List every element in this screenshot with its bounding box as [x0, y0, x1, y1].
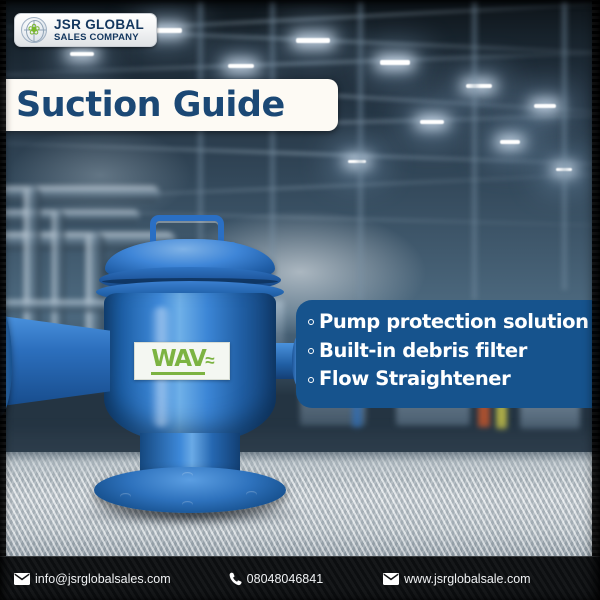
product-base-flange — [94, 467, 286, 513]
promotional-poster: WAV≈ ❀ JSR GLOBAL SALES COMPANY Suction … — [0, 0, 600, 600]
wave-brand-logo: WAV — [151, 348, 205, 375]
website-text: www.jsrglobalsale.com — [404, 572, 530, 586]
product-image-suction-guide: WAV≈ — [0, 215, 300, 535]
envelope-icon — [14, 573, 30, 585]
company-logo-text: JSR GLOBAL SALES COMPANY — [54, 18, 144, 43]
email-text: info@jsrglobalsales.com — [35, 572, 171, 586]
features-panel: Pump protection solution Built-in debris… — [296, 300, 600, 408]
contact-phone[interactable]: 08048046841 — [229, 572, 323, 586]
title-banner: Suction Guide — [0, 79, 338, 131]
page-title: Suction Guide — [16, 88, 285, 123]
feature-item: Built-in debris filter — [308, 338, 592, 364]
company-name-line2: SALES COMPANY — [54, 33, 144, 43]
bullet-circle-icon — [308, 348, 314, 354]
bullet-circle-icon — [308, 377, 314, 383]
wave-tilde-icon: ≈ — [205, 351, 212, 371]
phone-icon — [229, 572, 242, 586]
phone-text: 08048046841 — [247, 572, 323, 586]
flange-bolt-hole — [182, 501, 193, 507]
contact-website[interactable]: www.jsrglobalsale.com — [383, 572, 530, 586]
contact-footer-bar: info@jsrglobalsales.com 08048046841 www.… — [0, 556, 600, 600]
left-edge-frame — [0, 0, 6, 556]
globe-leaf-icon: ❀ — [21, 17, 47, 43]
flange-bolt-hole — [246, 491, 257, 497]
feature-label: Built-in debris filter — [319, 338, 527, 364]
flange-bolt-hole — [120, 493, 131, 499]
product-inlet-cone — [0, 315, 110, 407]
bullet-circle-icon — [308, 319, 314, 325]
company-name-line1: JSR GLOBAL — [54, 18, 144, 32]
contact-email[interactable]: info@jsrglobalsales.com — [14, 572, 171, 586]
feature-item: Flow Straightener — [308, 366, 592, 392]
feature-label: Pump protection solution — [319, 309, 589, 335]
envelope-icon — [383, 573, 399, 585]
product-nameplate: WAV≈ — [134, 342, 230, 380]
flange-bolt-hole — [182, 472, 193, 478]
right-edge-frame — [592, 0, 600, 556]
company-logo-badge[interactable]: ❀ JSR GLOBAL SALES COMPANY — [14, 13, 157, 47]
feature-label: Flow Straightener — [319, 366, 510, 392]
feature-item: Pump protection solution — [308, 309, 592, 335]
